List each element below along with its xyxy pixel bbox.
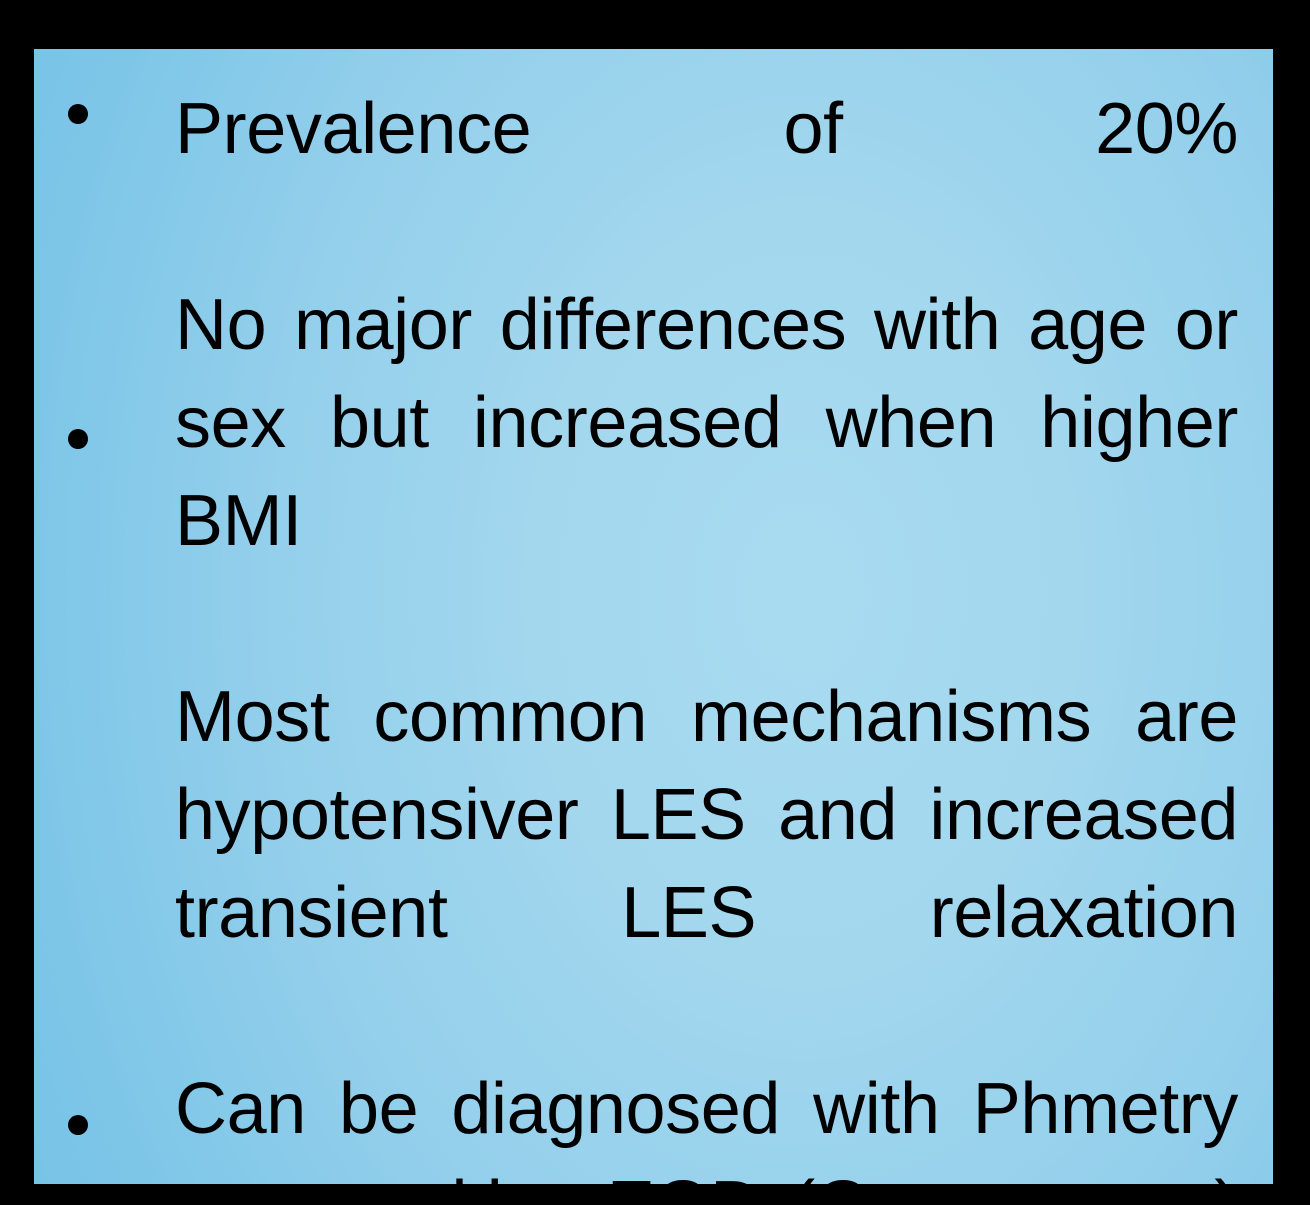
bullet-dot-icon	[68, 429, 88, 449]
list-item-text: No major differences with age or sex but…	[34, 276, 1273, 668]
list-item-text: Most common mechanisms are hypotensiver …	[34, 668, 1273, 1060]
slide-canvas: Prevalence of 20% No major differences w…	[0, 0, 1310, 1205]
list-item[interactable]: Most common mechanisms are hypotensiver …	[34, 668, 1273, 1060]
list-item[interactable]: Can be diagnosed with Phmetry or a posit…	[34, 1060, 1273, 1184]
bullet-list: Prevalence of 20% No major differences w…	[34, 49, 1273, 1184]
list-item[interactable]: Prevalence of 20%	[34, 49, 1273, 276]
list-item-text: Can be diagnosed with Phmetry or a posit…	[34, 1060, 1273, 1184]
list-item[interactable]: No major differences with age or sex but…	[34, 276, 1273, 668]
content-panel: Prevalence of 20% No major differences w…	[34, 49, 1273, 1184]
bullet-dot-icon	[68, 104, 88, 124]
list-item-text: Prevalence of 20%	[34, 49, 1273, 276]
